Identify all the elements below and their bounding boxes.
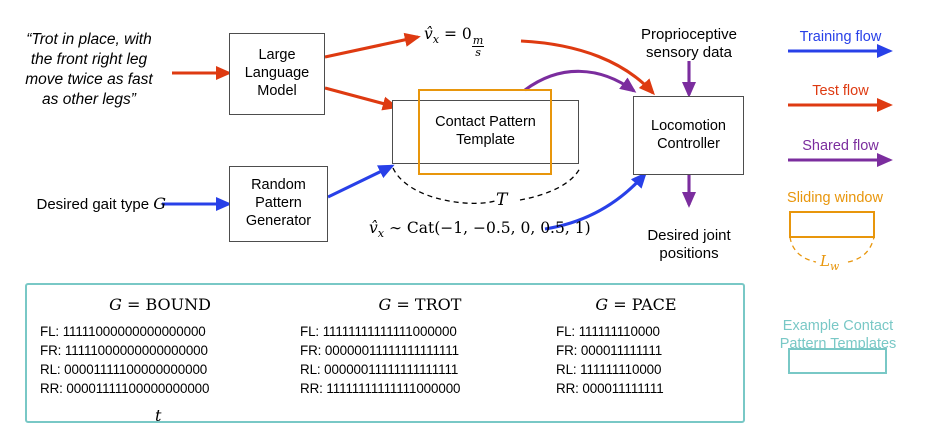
llm-line-2: Language xyxy=(245,65,310,83)
gait-bound-symbol: G xyxy=(109,295,122,314)
gait-bound-eq: = xyxy=(127,295,140,314)
vx-test-lhs: v̂ xyxy=(424,25,433,43)
gait-rows-bound: FL: 11111000000000000000 FR: 11111000000… xyxy=(40,322,280,398)
leg-label-fl: FL: xyxy=(300,324,319,339)
gait-row: FR: 00000011111111111111 xyxy=(300,341,540,360)
gait-row: FR: 11111000000000000000 xyxy=(40,341,280,360)
vx-test-eq: = 0 xyxy=(444,25,472,43)
label-time-axis-t: t xyxy=(155,406,161,425)
desired-gait-text: Desired gait type xyxy=(36,196,149,213)
gait-title-pace: G = PACE xyxy=(556,295,716,314)
leg-label-rl: RL: xyxy=(300,362,321,377)
equation-vx-train: v̂x ∼ Cat(−1, −0.5, 0, 0.5, 1) xyxy=(369,219,591,240)
vx-test-unit-den: s xyxy=(472,47,485,58)
label-desired-joint-positions: Desired joint positions xyxy=(618,208,760,264)
gait-trot-name: TROT xyxy=(415,295,462,314)
pattern-pace-rr: 000011111111 xyxy=(582,381,663,396)
gait-pace-eq: = xyxy=(613,295,626,314)
pattern-bound-rl: 00001111100000000000 xyxy=(64,362,207,377)
gait-row: RL: 00000011111111111111 xyxy=(300,360,540,379)
diagram-canvas: “Trot in place, with the front right leg… xyxy=(0,0,935,434)
legend-label-test-flow: Test flow xyxy=(788,83,893,99)
llm-line-3: Model xyxy=(245,83,310,101)
legend-example-templates-rect xyxy=(788,348,887,374)
block-large-language-model[interactable]: Large Language Model xyxy=(229,33,325,115)
label-proprioceptive-sensory-data: Proprioceptive sensory data xyxy=(613,7,765,63)
vx-train-sub: x xyxy=(378,227,384,240)
label-desired-gait-type: Desired gait type G xyxy=(6,194,166,213)
gait-row: RR: 00001111100000000000 xyxy=(40,379,280,398)
gait-template-trot: G = TROT FL: 11111111111111000000 FR: 00… xyxy=(300,295,540,398)
leg-label-fr: FR: xyxy=(556,343,577,358)
pattern-bound-rr: 00001111100000000000 xyxy=(66,381,209,396)
rpg-line-1: Random xyxy=(246,177,311,195)
joint-line-2: positions xyxy=(659,245,718,262)
leg-label-fl: FL: xyxy=(40,324,59,339)
proprioceptive-line-2: sensory data xyxy=(646,44,732,61)
llm-line-1: Large xyxy=(245,47,310,65)
gait-trot-symbol: G xyxy=(379,295,392,314)
leg-label-rr: RR: xyxy=(40,381,63,396)
gait-rows-trot: FL: 11111111111111000000 FR: 00000011111… xyxy=(300,322,540,398)
proprioceptive-line-1: Proprioceptive xyxy=(641,26,737,43)
leg-label-rr: RR: xyxy=(300,381,323,396)
pattern-bound-fr: 11111000000000000000 xyxy=(65,343,208,358)
pattern-pace-fr: 000011111111 xyxy=(581,343,662,358)
leg-label-rl: RL: xyxy=(40,362,61,377)
pattern-bound-fl: 11111000000000000000 xyxy=(63,324,206,339)
pattern-pace-rl: 111111110000 xyxy=(580,362,661,377)
vx-test-units: ms xyxy=(472,35,485,59)
controller-line-2: Controller xyxy=(651,136,726,154)
gait-row: FL: 111111110000 xyxy=(556,322,731,341)
pattern-trot-fr: 00000011111111111111 xyxy=(325,343,459,358)
pattern-trot-fl: 11111111111111000000 xyxy=(323,324,457,339)
rpg-line-3: Generator xyxy=(246,213,311,231)
gait-pace-symbol: G xyxy=(595,295,608,314)
prompt-text: “Trot in place, with the front right leg… xyxy=(8,30,170,111)
pattern-pace-fl: 111111110000 xyxy=(579,324,660,339)
gait-trot-eq: = xyxy=(396,295,409,314)
gait-bound-name: BOUND xyxy=(145,295,210,314)
legend-label-training-flow: Training flow xyxy=(788,29,893,45)
controller-line-1: Locomotion xyxy=(651,118,726,136)
block-random-pattern-generator[interactable]: Random Pattern Generator xyxy=(229,166,328,242)
legend-sliding-window-rect xyxy=(789,211,875,238)
gait-pace-name: PACE xyxy=(632,295,677,314)
gait-title-bound: G = BOUND xyxy=(40,295,280,314)
gait-row: RL: 111111110000 xyxy=(556,360,731,379)
leg-label-fr: FR: xyxy=(300,343,321,358)
gait-row: RL: 00001111100000000000 xyxy=(40,360,280,379)
leg-label-rr: RR: xyxy=(556,381,579,396)
legend-label-example-templates: Example Contact Pattern Templates xyxy=(764,299,912,353)
vx-train-rest: ∼ Cat(−1, −0.5, 0, 0.5, 1) xyxy=(389,219,591,237)
gait-symbol-G: G xyxy=(153,194,166,213)
arrow-rpg-to-cpt xyxy=(328,166,392,197)
gait-template-pace: G = PACE FL: 111111110000 FR: 0000111111… xyxy=(556,295,731,398)
sliding-window-overlay[interactable] xyxy=(418,89,552,175)
equation-vx-test: v̂x = 0ms xyxy=(424,25,484,59)
leg-label-fl: FL: xyxy=(556,324,575,339)
gait-row: FL: 11111000000000000000 xyxy=(40,322,280,341)
arrow-llm-to-vx xyxy=(325,37,418,57)
legend-label-shared-flow: Shared flow xyxy=(788,138,893,154)
gait-row: RR: 000011111111 xyxy=(556,379,731,398)
leg-label-fr: FR: xyxy=(40,343,61,358)
gait-rows-pace: FL: 111111110000 FR: 000011111111 RL: 11… xyxy=(556,322,731,398)
label-period-T: T xyxy=(496,190,507,210)
gait-row: FL: 11111111111111000000 xyxy=(300,322,540,341)
arrow-llm-to-cpt xyxy=(325,88,396,107)
gait-title-trot: G = TROT xyxy=(300,295,540,314)
leg-label-rl: RL: xyxy=(556,362,577,377)
vx-test-sub: x xyxy=(433,33,439,46)
legend-window-length-label: Lw xyxy=(820,252,839,273)
rpg-line-2: Pattern xyxy=(246,195,311,213)
vx-train-lhs: v̂ xyxy=(369,219,378,237)
joint-line-1: Desired joint xyxy=(647,227,730,244)
example-label-line-1: Example Contact xyxy=(783,318,893,334)
legend-label-sliding-window: Sliding window xyxy=(770,190,900,206)
gait-row: RR: 11111111111111000000 xyxy=(300,379,540,398)
pattern-trot-rr: 11111111111111000000 xyxy=(326,381,460,396)
gait-row: FR: 000011111111 xyxy=(556,341,731,360)
block-locomotion-controller[interactable]: Locomotion Controller xyxy=(633,96,744,175)
gait-template-bound: G = BOUND FL: 11111000000000000000 FR: 1… xyxy=(40,295,280,398)
pattern-trot-rl: 00000011111111111111 xyxy=(324,362,458,377)
